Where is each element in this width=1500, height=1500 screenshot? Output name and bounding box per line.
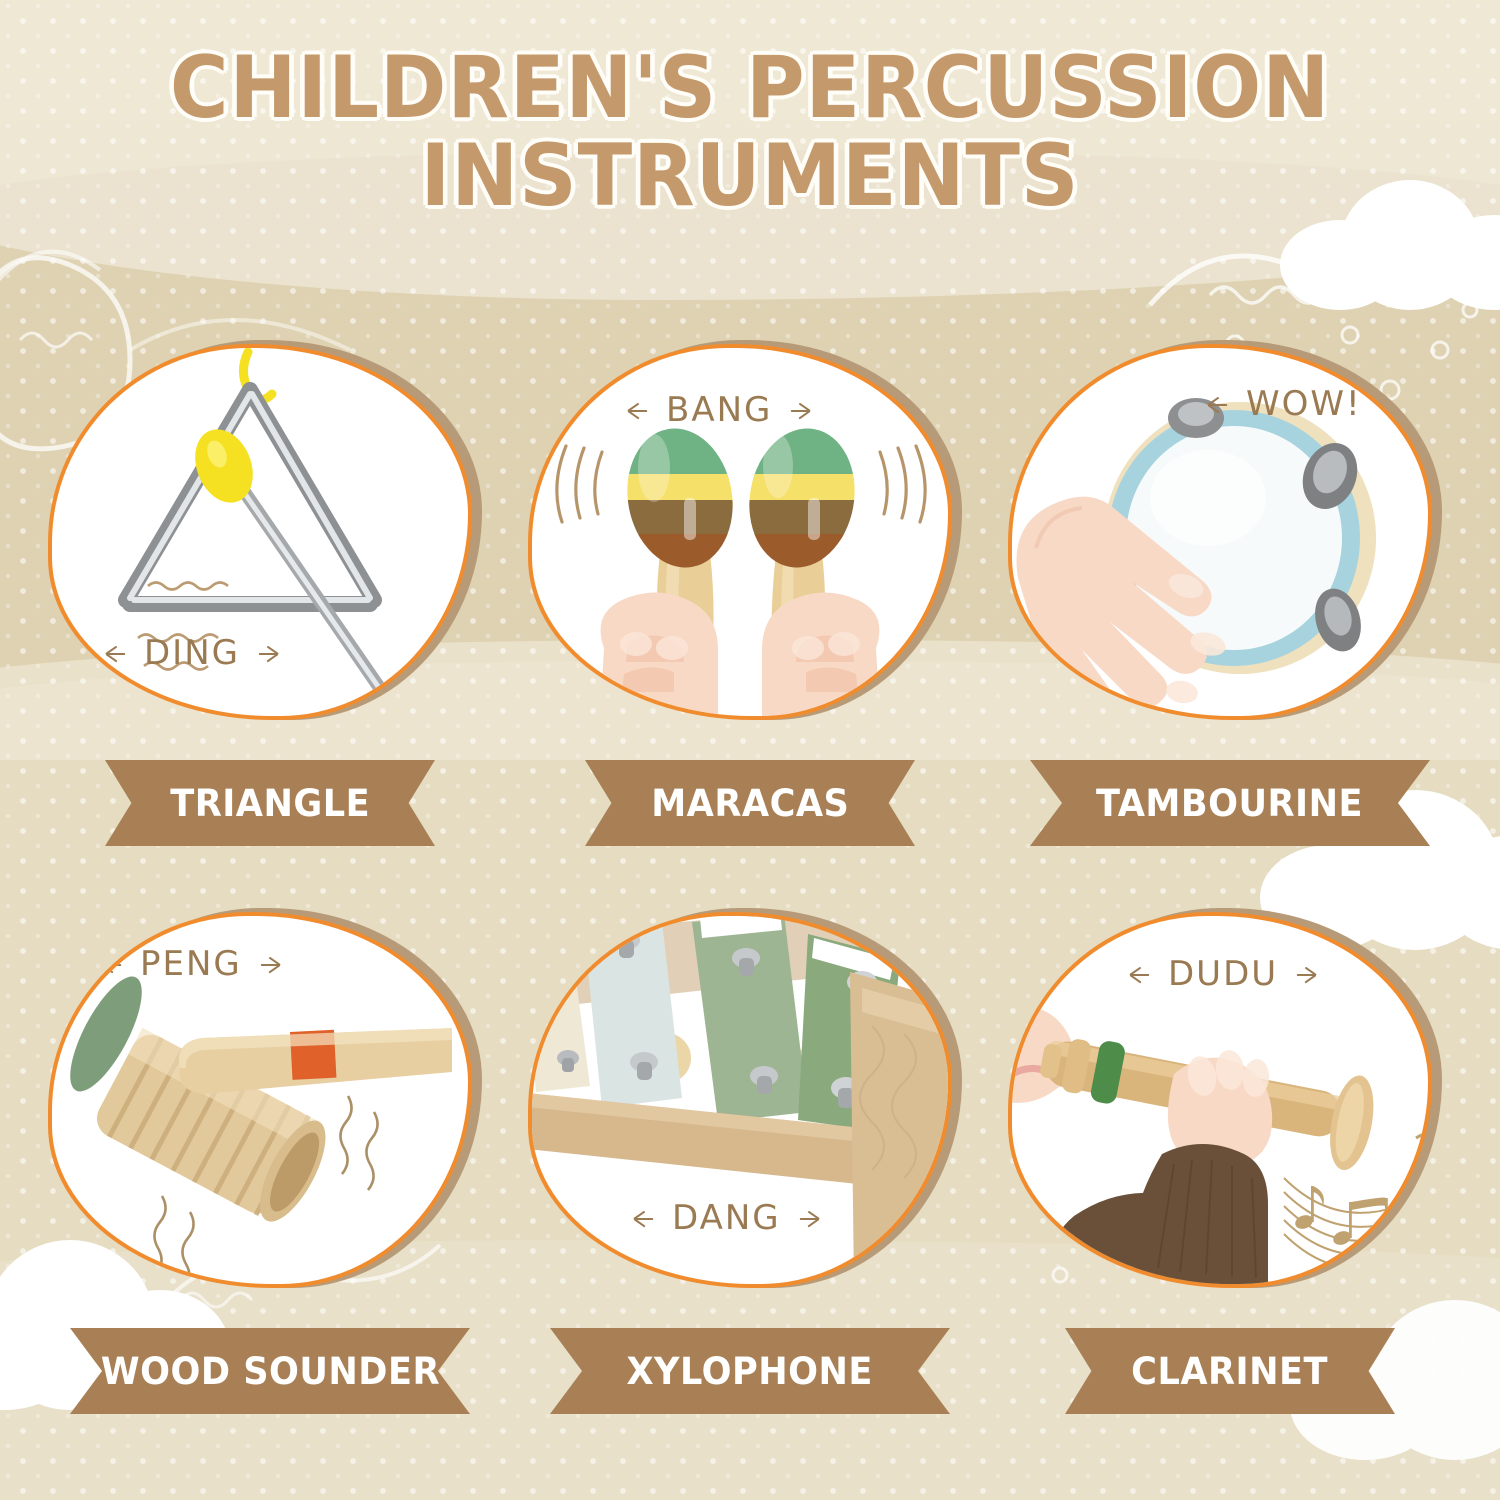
hand-right (762, 592, 880, 716)
burst-right-icon (1286, 954, 1316, 994)
sound-effect-text: DUDU (1168, 954, 1278, 994)
burst-left-icon (1130, 954, 1160, 994)
sound-effect-peng: PENG (102, 944, 280, 984)
sound-effect-text: BANG (666, 390, 772, 430)
label-ribbon-triangle: TRIANGLE (105, 760, 435, 846)
card-face: PENG (52, 916, 468, 1284)
page-title: CHILDREN'S PERCUSSION INSTRUMENTS (0, 48, 1500, 217)
ribbon-label: MARACAS (651, 782, 849, 825)
instrument-card-tambourine[interactable]: WOW! TAMBOURINE (1000, 330, 1460, 846)
card-shape-clarinet: DUDU (1000, 898, 1460, 1298)
burst-right-icon (248, 633, 278, 673)
instrument-card-triangle[interactable]: DING TRIANGLE (40, 330, 500, 846)
instrument-card-wood-sounder[interactable]: PENG WOOD SOUNDER (40, 898, 500, 1414)
ribbon-label: XYLOPHONE (627, 1350, 873, 1393)
wood-sounder-mallet (179, 1028, 452, 1094)
burst-left-icon (102, 944, 132, 984)
sound-effect-text: DING (144, 633, 240, 673)
sound-effect-dudu: DUDU (1130, 954, 1316, 994)
burst-right-icon (250, 944, 280, 984)
instrument-card-clarinet[interactable]: DUDU CLARINET (1000, 898, 1460, 1414)
burst-right-icon (780, 390, 810, 430)
ribbon-label: TAMBOURINE (1097, 782, 1364, 825)
instrument-card-maracas[interactable]: BANG MARACAS (520, 330, 980, 846)
sound-effect-dang: DANG (634, 1198, 819, 1238)
treble-flourish (1416, 1134, 1428, 1162)
burst-right-icon (789, 1198, 819, 1238)
card-face: DING (52, 348, 468, 716)
label-ribbon-wood-sounder: WOOD SOUNDER (70, 1328, 470, 1414)
card-shape-maracas: BANG (520, 330, 980, 730)
page-title-line-2: INSTRUMENTS (53, 136, 1448, 218)
sound-effect-text: DANG (672, 1198, 781, 1238)
label-ribbon-xylophone: XYLOPHONE (550, 1328, 950, 1414)
card-face: DUDU (1012, 916, 1428, 1284)
burst-left-icon (634, 1198, 664, 1238)
maraca-head-right (732, 418, 872, 584)
instrument-row-bottom: PENG WOOD SOUNDER (0, 898, 1500, 1458)
card-face: BANG (532, 348, 948, 716)
sound-effect-ding: DING (106, 633, 278, 673)
sleeve (1053, 1144, 1268, 1284)
maraca-head-left (612, 418, 752, 584)
card-face: WOW! (1012, 348, 1428, 716)
card-shape-triangle: DING (40, 330, 500, 730)
label-ribbon-tambourine: TAMBOURINE (1030, 760, 1430, 846)
card-shape-xylophone: DANG (520, 898, 980, 1298)
ribbon-label: CLARINET (1132, 1350, 1329, 1393)
card-face: DANG (532, 916, 948, 1284)
burst-left-icon (106, 633, 136, 673)
ribbon-label: TRIANGLE (170, 782, 370, 825)
sound-effect-text: WOW! (1246, 384, 1362, 424)
label-ribbon-maracas: MARACAS (585, 760, 915, 846)
burst-right-icon (1370, 384, 1400, 424)
instrument-card-xylophone[interactable]: DANG XYLOPHONE (520, 898, 980, 1414)
hand-left (600, 592, 718, 716)
burst-left-icon (1208, 384, 1238, 424)
sound-effect-bang: BANG (628, 390, 810, 430)
burst-left-icon (628, 390, 658, 430)
motion-lines-left (557, 446, 602, 522)
card-shape-wood-sounder: PENG (40, 898, 500, 1298)
label-ribbon-clarinet: CLARINET (1065, 1328, 1395, 1414)
page-title-line-1: CHILDREN'S PERCUSSION (53, 48, 1448, 130)
sound-effect-text: PENG (140, 944, 242, 984)
instrument-row-top: DING TRIANGLE (0, 330, 1500, 890)
ribbon-label: WOOD SOUNDER (100, 1350, 439, 1393)
motion-lines-right (880, 446, 925, 522)
instrument-grid: DING TRIANGLE (0, 330, 1500, 1458)
sound-effect-wow: WOW! (1208, 384, 1400, 424)
card-shape-tambourine: WOW! (1000, 330, 1460, 730)
